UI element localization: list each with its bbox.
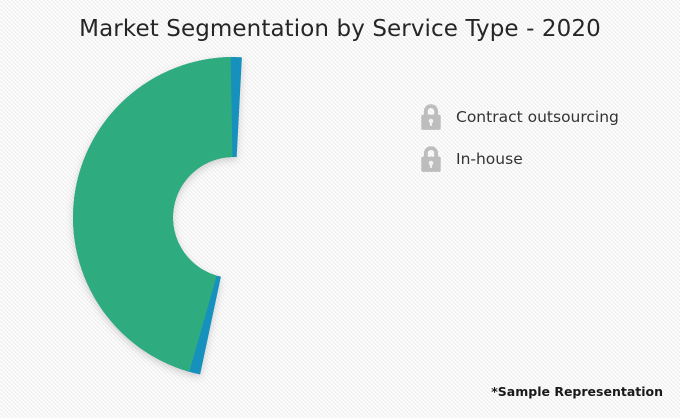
legend-item-label: In-house xyxy=(456,150,523,168)
legend-item-contract-outsourcing[interactable]: Contract outsourcing xyxy=(418,96,658,138)
donut-chart-card: Market Segmentation by Service Type - 20… xyxy=(0,0,680,418)
donut-chart xyxy=(73,57,394,378)
lock-icon xyxy=(418,102,444,132)
page-title: Market Segmentation by Service Type - 20… xyxy=(0,16,680,42)
legend-item-label: Contract outsourcing xyxy=(456,108,619,126)
sample-representation-note: *Sample Representation xyxy=(491,384,663,399)
lock-icon xyxy=(418,144,444,174)
legend: Contract outsourcing In-house xyxy=(418,96,658,180)
donut-chart-svg xyxy=(73,57,394,378)
legend-item-in-house[interactable]: In-house xyxy=(418,138,658,180)
